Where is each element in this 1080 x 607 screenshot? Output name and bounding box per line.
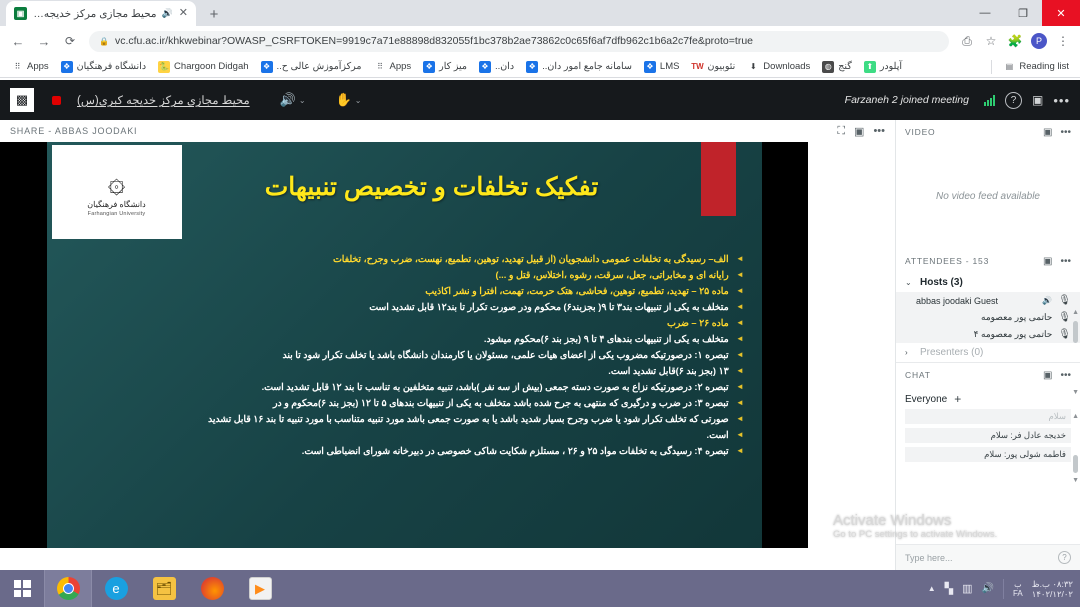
chat-panel-header: CHAT ▣ •••: [896, 363, 1080, 387]
no-video-message: No video feed available: [936, 191, 1040, 202]
tab-close-icon[interactable]: ✕: [178, 8, 189, 19]
uploader-icon: ⬆: [864, 61, 876, 73]
bullet-text: متخلف به یکی از تنبیهات بندهای ۴ تا ۹ (ب…: [64, 332, 729, 346]
taskbar-item-internet-explorer[interactable]: e: [92, 570, 140, 607]
attendee-name: abbas joodaki Guest: [916, 296, 1036, 306]
bullet-marker-icon: ►: [736, 268, 744, 282]
webconference-app: ▩ محیط مجازی مرکز خدیجه کبری(س) 🔊 ⌄ ✋ ⌄ …: [0, 80, 1080, 570]
taskbar-item-file-explorer[interactable]: 🗂: [140, 570, 188, 607]
minimize-presentation-icon[interactable]: ⛶: [837, 125, 845, 138]
app-logo-icon[interactable]: ▩: [10, 88, 34, 112]
reading-list-button[interactable]: ▤Reading list: [998, 60, 1074, 74]
meeting-title: محیط مجازی مرکز خدیجه کبری(س): [77, 93, 250, 107]
attendee-row[interactable]: حاتمی پور معصومه ۴ 🎙: [896, 326, 1080, 343]
right-sidebar: VIDEO ▣ ••• No video feed available ATTE…: [895, 120, 1080, 570]
video-options-icon[interactable]: •••: [1060, 127, 1071, 138]
bookmark-label: نئوبیون: [707, 61, 735, 72]
tab-title: محیط مجازی مرکز خدیجه کبری: [32, 8, 157, 20]
bullet-item: ►تبصره ۲: درصورتیکه نزاع به صورت دسته جم…: [64, 380, 744, 394]
download-icon: ⬇: [747, 61, 759, 73]
speaker-icon[interactable]: 🔊: [280, 92, 296, 108]
chat-message: فاطمه شولی پور: سلام: [905, 447, 1071, 462]
taskbar-item-firefox[interactable]: [188, 570, 236, 607]
globe-icon: ◍: [822, 61, 834, 73]
bookmarks-bar: ⠿Apps ❖دانشگاه فرهنگیان 🐍Chargoon Didgah…: [0, 56, 1080, 78]
chat-input[interactable]: Type here...: [905, 553, 1052, 563]
decorative-red-block: [701, 142, 736, 216]
minimize-button[interactable]: —: [966, 0, 1004, 26]
attendee-name: حاتمی پور معصومه ۴: [916, 329, 1052, 340]
bullet-marker-icon: ►: [736, 252, 744, 266]
mic-off-icon[interactable]: 🎙: [1058, 329, 1071, 340]
bookmark-label: Chargoon Didgah: [174, 61, 248, 72]
bullet-item: ►متخلف به یکی از تنبیهات بندهای ۴ تا ۹ (…: [64, 332, 744, 346]
bookmark-label: آپلودر: [880, 61, 902, 72]
close-button[interactable]: ✕: [1042, 0, 1080, 26]
options-menu-icon[interactable]: •••: [1053, 93, 1070, 108]
bullet-text: الف– رسیدگی به تخلفات عمومی دانشجویان (ا…: [64, 252, 729, 266]
group-label: Presenters (0): [920, 347, 983, 358]
chat-message: خدیجه عادل فر: سلام: [905, 428, 1071, 443]
chevron-right-icon[interactable]: ›: [905, 348, 914, 357]
bullet-item: ►رایانه ای و مخابراتی، جعل، سرقت، رشوه ،…: [64, 268, 744, 282]
bookmark-label: Downloads: [763, 61, 810, 72]
bookmark-item[interactable]: ❖LMS: [639, 60, 685, 74]
bullet-text: صورتی که تخلف تکرار شود یا ضرب وجرح بسیا…: [64, 412, 729, 426]
bullet-item: ►ماده ۲۶ – ضرب: [64, 316, 744, 330]
speaking-icon: 🔊: [1042, 296, 1052, 305]
bookmark-item[interactable]: ⠿Apps: [6, 60, 54, 74]
bookmark-item[interactable]: ◍گنج: [817, 60, 857, 74]
chevron-down-icon[interactable]: ⌄: [905, 278, 914, 287]
chargoon-icon: 🐍: [158, 61, 170, 73]
hand-icon[interactable]: ✋: [336, 92, 352, 108]
bullet-item: ►تبصره ۳: در ضرب و درگیری که منتهی به جر…: [64, 396, 744, 410]
bullet-text: رایانه ای و مخابراتی، جعل، سرقت، رشوه ،ا…: [64, 268, 729, 282]
university-name-fa: دانشگاه فرهنگیان: [87, 200, 145, 209]
bookmark-star-icon[interactable]: ☆: [980, 30, 1002, 52]
bookmark-item[interactable]: ❖مرکزآموزش عالی ح..: [256, 60, 367, 74]
bookmarks-divider: [991, 60, 992, 74]
apps-grid-icon: ⠿: [11, 61, 23, 73]
attendee-row[interactable]: حاتمی پور معصومه 🎙: [896, 309, 1080, 326]
recording-indicator-icon[interactable]: [52, 96, 61, 105]
bullet-marker-icon: ►: [736, 396, 744, 410]
bullet-item: ►تبصره ۴: رسیدگی به تخلفات مواد ۲۵ و ۲۶ …: [64, 444, 744, 458]
bookmark-item[interactable]: ⠿Apps: [369, 60, 417, 74]
site-icon: ❖: [61, 61, 73, 73]
university-logo: ۞ دانشگاه فرهنگیان Farhangian University: [52, 145, 182, 239]
tray-divider: [1003, 579, 1004, 599]
site-icon: ❖: [261, 61, 273, 73]
mic-off-icon[interactable]: 🎙: [1058, 312, 1071, 323]
chat-input-row[interactable]: Type here... ?: [896, 544, 1080, 570]
bullet-text: متخلف به یکی از تنبیهات بند۳ تا ۹( بجزبن…: [64, 300, 729, 314]
group-label: Hosts (3): [920, 277, 963, 288]
file-explorer-icon: 🗂: [153, 577, 176, 600]
site-icon: ❖: [479, 61, 491, 73]
attendees-label: ATTENDEES - 153: [905, 256, 989, 266]
add-chat-icon[interactable]: +: [954, 392, 961, 406]
chat-label: CHAT: [905, 370, 931, 380]
profile-avatar[interactable]: P: [1031, 33, 1047, 49]
fit-chat-icon[interactable]: ▣: [1043, 370, 1052, 381]
windows-start-icon: [14, 580, 31, 597]
language-bottom: FA: [1013, 589, 1023, 598]
bullet-marker-icon: ►: [736, 332, 744, 346]
attendee-group-presenters[interactable]: › Presenters (0): [896, 343, 1080, 362]
maximize-button[interactable]: ❐: [1004, 0, 1042, 26]
attendees-options-icon[interactable]: •••: [1060, 256, 1071, 267]
chrome-menu-icon[interactable]: ⋮: [1052, 30, 1074, 52]
status-message: Farzaneh 2 joined meeting: [845, 94, 969, 106]
bookmark-label: دانشگاه فرهنگیان: [77, 61, 146, 72]
bullet-text: ماده ۲۶ – ضرب: [64, 316, 729, 330]
bullet-text: تبصره ۱: درصورتیکه مضروب یکی از اعضای هی…: [64, 348, 729, 362]
bullet-text: تبصره ۳: در ضرب و درگیری که منتهی به جرح…: [64, 396, 729, 410]
bookmark-label: میز کار: [439, 61, 467, 72]
attendees-list[interactable]: ⌄ Hosts (3) abbas joodaki Guest 🔊 🎙 حاتم…: [896, 273, 1080, 362]
slide-title: تفکیک تخلفات و تخصیص تنبیهات: [172, 172, 692, 202]
volume-icon[interactable]: ▥: [962, 582, 972, 595]
start-button[interactable]: [0, 570, 44, 607]
tab-favicon: ▣: [14, 7, 27, 20]
bullet-text: ۱۳ (بجز بند ۶)قابل تشدید است.: [64, 364, 729, 378]
fit-video-icon[interactable]: ▣: [1043, 127, 1052, 138]
chat-panel: CHAT ▣ ••• Everyone + سلام خدیجه عادل فر…: [896, 362, 1080, 570]
audio-control[interactable]: 🔊 ⌄: [280, 92, 306, 108]
presentation-area: SHARE - ABBAS JOODAKI ⛶ ▣ ••• ۞ دانشگاه …: [0, 120, 895, 570]
chat-options-icon[interactable]: •••: [1060, 370, 1071, 381]
firefox-icon: [201, 577, 224, 600]
bullet-item: ►الف– رسیدگی به تخلفات عمومی دانشجویان (…: [64, 252, 744, 266]
url-text: vc.cfu.ac.ir/khkwebinar?OWASP_CSRFTOKEN=…: [115, 35, 753, 47]
attendees-scrollbar-thumb[interactable]: [1073, 321, 1078, 343]
clock-time: ۰۸:۳۲ ب.ظ: [1032, 579, 1073, 589]
browser-toolbar: ← → ⟳ 🔒 vc.cfu.ac.ir/khkwebinar?OWASP_CS…: [0, 26, 1080, 56]
chevron-down-icon[interactable]: ⌄: [299, 96, 306, 105]
fit-attendees-icon[interactable]: ▣: [1043, 256, 1052, 267]
mic-on-icon[interactable]: 🎙: [1058, 295, 1071, 306]
university-name-en: Farhangian University: [88, 211, 146, 217]
site-icon: ❖: [423, 61, 435, 73]
video-panel-header: VIDEO ▣ •••: [896, 120, 1080, 144]
bullet-text: ماده ۲۵ – تهدید، تطمیع، توهین، فحاشی، هت…: [64, 284, 729, 298]
video-panel-label: VIDEO: [905, 127, 935, 137]
new-tab-button[interactable]: +: [202, 2, 226, 26]
chat-scrollbar-thumb[interactable]: [1073, 455, 1078, 473]
language-indicator[interactable]: ب FA: [1013, 580, 1023, 598]
window-controls: — ❐ ✕: [966, 0, 1080, 26]
clock[interactable]: ۰۸:۳۲ ب.ظ ۱۴۰۲/۱۲/۰۲: [1032, 579, 1073, 599]
bullet-marker-icon: ►: [736, 428, 744, 442]
bullet-item: ►متخلف به یکی از تنبیهات بند۳ تا ۹( بجزب…: [64, 300, 744, 314]
hand-control[interactable]: ✋ ⌄: [336, 92, 362, 108]
lms-icon: ❖: [644, 61, 656, 73]
slide: ۞ دانشگاه فرهنگیان Farhangian University…: [47, 142, 762, 548]
reading-list-icon: ▤: [1003, 61, 1015, 73]
taskbar-item-media-player[interactable]: ▶: [236, 570, 284, 607]
reading-list-label: Reading list: [1019, 61, 1069, 72]
university-emblem-icon: ۞: [108, 168, 126, 198]
scroll-up-arrow[interactable]: ▲: [1072, 309, 1079, 316]
chat-messages[interactable]: سلام خدیجه عادل فر: سلام فاطمه شولی پور:…: [896, 409, 1080, 544]
bookmark-label: گنج: [838, 61, 852, 72]
bullet-marker-icon: ►: [736, 364, 744, 378]
chat-target-row[interactable]: Everyone +: [896, 387, 1080, 409]
language-top: ب: [1014, 580, 1022, 589]
reload-button[interactable]: ⟳: [58, 29, 82, 53]
bullet-text: تبصره ۲: درصورتیکه نزاع به صورت دسته جمع…: [64, 380, 729, 394]
help-icon[interactable]: ?: [1005, 92, 1022, 109]
chat-scroll-down-arrow[interactable]: ▼: [1072, 477, 1079, 484]
site-icon: ❖: [526, 61, 538, 73]
bookmark-label: Apps: [27, 61, 49, 72]
bullet-text: تبصره ۴: رسیدگی به تخلفات مواد ۲۵ و ۲۶ ،…: [64, 444, 729, 458]
bookmark-label: مرکزآموزش عالی ح..: [277, 61, 362, 72]
chat-help-icon[interactable]: ?: [1058, 551, 1071, 564]
bullet-marker-icon: ►: [736, 412, 744, 426]
bookmark-label: دان..: [495, 61, 514, 72]
app-body: SHARE - ABBAS JOODAKI ⛶ ▣ ••• ۞ دانشگاه …: [0, 120, 1080, 570]
extensions-icon[interactable]: 🧩: [1004, 30, 1026, 52]
back-button[interactable]: ←: [6, 29, 30, 53]
internet-explorer-icon: e: [105, 577, 128, 600]
attendee-group-hosts[interactable]: ⌄ Hosts (3): [896, 273, 1080, 292]
bullet-marker-icon: ►: [736, 316, 744, 330]
bullet-item: ►است.: [64, 428, 744, 442]
attendees-panel-header: ATTENDEES - 153 ▣ •••: [896, 249, 1080, 273]
bookmark-item[interactable]: TWنئوبیون: [686, 60, 740, 74]
bullet-item: ►ماده ۲۵ – تهدید، تطمیع، توهین، فحاشی، ه…: [64, 284, 744, 298]
bookmark-item[interactable]: ⬆آپلودر: [859, 60, 907, 74]
bookmark-item[interactable]: ⬇Downloads: [742, 60, 815, 74]
network-icon[interactable]: ▚: [945, 582, 953, 595]
layout-icon[interactable]: ▣: [1032, 93, 1043, 107]
video-feed-area: No video feed available: [896, 144, 1080, 249]
bookmark-item[interactable]: ❖دانشگاه فرهنگیان: [56, 60, 151, 74]
speaker-icon[interactable]: 🔊: [982, 583, 994, 594]
chat-target-label: Everyone: [905, 394, 947, 405]
taskbar-item-chrome[interactable]: [44, 570, 92, 607]
bullet-marker-icon: ►: [736, 300, 744, 314]
chevron-down-icon[interactable]: ⌄: [355, 96, 362, 105]
bullet-item: ►صورتی که تخلف تکرار شود یا ضرب وجرح بسی…: [64, 412, 744, 426]
bookmark-label: سامانه جامع امور دان..: [542, 61, 632, 72]
browser-tab[interactable]: ▣ محیط مجازی مرکز خدیجه کبری 🔊 ✕: [6, 1, 196, 26]
bookmark-label: LMS: [660, 61, 680, 72]
chat-message: سلام: [905, 409, 1071, 424]
bookmark-item[interactable]: 🐍Chargoon Didgah: [153, 60, 253, 74]
slide-viewport[interactable]: ۞ دانشگاه فرهنگیان Farhangian University…: [0, 142, 808, 548]
apps-grid-icon: ⠿: [374, 61, 386, 73]
chrome-icon: [57, 577, 80, 600]
bookmark-item[interactable]: ❖سامانه جامع امور دان..: [521, 60, 637, 74]
connection-signal-icon: [984, 95, 995, 106]
bullet-marker-icon: ►: [736, 380, 744, 394]
fit-presentation-icon[interactable]: ▣: [854, 125, 864, 138]
lock-icon: 🔒: [99, 37, 109, 46]
address-bar[interactable]: 🔒 vc.cfu.ac.ir/khkwebinar?OWASP_CSRFTOKE…: [89, 31, 949, 52]
share-label: SHARE - ABBAS JOODAKI: [10, 126, 137, 136]
app-topbar: ▩ محیط مجازی مرکز خدیجه کبری(س) 🔊 ⌄ ✋ ⌄ …: [0, 80, 1080, 120]
show-hidden-icons-button[interactable]: ▲: [928, 584, 936, 593]
system-tray: ▲ ▚ ▥ 🔊 ب FA ۰۸:۳۲ ب.ظ ۱۴۰۲/۱۲/۰۲: [928, 579, 1080, 599]
presentation-options-icon[interactable]: •••: [873, 125, 885, 137]
tw-icon: TW: [691, 61, 703, 73]
presentation-header: SHARE - ABBAS JOODAKI ⛶ ▣ •••: [0, 120, 895, 142]
windows-taskbar: e 🗂 ▶ ▲ ▚ ▥ 🔊 ب FA ۰۸:۳۲ ب.ظ ۱۴۰۲/۱۲/۰۲: [0, 570, 1080, 607]
tab-strip: ▣ محیط مجازی مرکز خدیجه کبری 🔊 ✕ + — ❐ ✕: [0, 0, 1080, 26]
bullet-text: است.: [64, 428, 729, 442]
bullet-item: ►تبصره ۱: درصورتیکه مضروب یکی از اعضای ه…: [64, 348, 744, 362]
bullet-marker-icon: ►: [736, 348, 744, 362]
forward-button[interactable]: →: [32, 29, 56, 53]
screen: ▣ محیط مجازی مرکز خدیجه کبری 🔊 ✕ + — ❐ ✕…: [0, 0, 1080, 607]
bullet-item: ►۱۳ (بجز بند ۶)قابل تشدید است.: [64, 364, 744, 378]
bookmark-item[interactable]: ❖دان..: [474, 60, 519, 74]
slide-bullet-list: ►الف– رسیدگی به تخلفات عمومی دانشجویان (…: [64, 252, 744, 460]
attendee-row[interactable]: abbas joodaki Guest 🔊 🎙: [896, 292, 1080, 309]
tab-audio-icon[interactable]: 🔊: [162, 8, 173, 19]
share-icon[interactable]: ⎙: [956, 30, 978, 52]
bullet-marker-icon: ►: [736, 444, 744, 458]
attendee-name: حاتمی پور معصومه: [916, 312, 1052, 323]
bullet-marker-icon: ►: [736, 284, 744, 298]
media-player-icon: ▶: [249, 577, 272, 600]
bookmark-label: Apps: [390, 61, 412, 72]
bookmark-item[interactable]: ❖میز کار: [418, 60, 472, 74]
chat-scroll-up-arrow[interactable]: ▲: [1072, 413, 1079, 420]
clock-date: ۱۴۰۲/۱۲/۰۲: [1032, 589, 1073, 599]
